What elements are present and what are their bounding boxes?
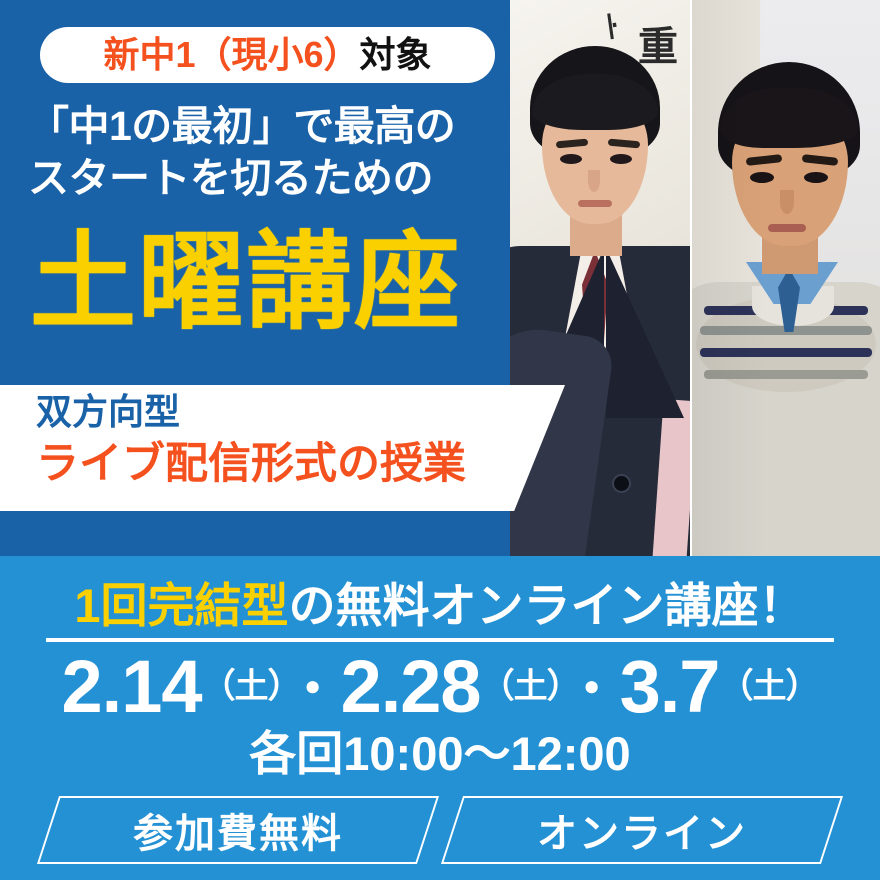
target-audience-black: 対象 bbox=[360, 34, 432, 75]
target-audience-accent: 新中1（現小6） bbox=[103, 34, 359, 75]
target-audience-label: 新中1（現小6）対象 bbox=[103, 37, 431, 73]
jacket-button bbox=[614, 476, 629, 491]
date-3-dow: （土） bbox=[719, 668, 818, 706]
format-line-1: 双方向型 bbox=[36, 394, 180, 430]
course-title: 土曜講座 bbox=[30, 228, 510, 339]
nose bbox=[588, 170, 600, 192]
photo-divider bbox=[690, 0, 692, 556]
headline-line-1: 「中1の最初」で最高の bbox=[28, 100, 498, 152]
headline: 「中1の最初」で最高の スタートを切るための bbox=[28, 100, 498, 205]
date-separator-1: ・ bbox=[284, 661, 341, 717]
teacher-photo-right bbox=[690, 0, 880, 556]
promo-line: 1回完結型の無料オンライン講座！ bbox=[0, 582, 880, 629]
badge-label: オンライン bbox=[452, 796, 832, 864]
eye-left bbox=[560, 154, 582, 164]
session-dates: 2.14（土）・2.28（土）・3.7（土） bbox=[0, 650, 880, 724]
date-1: 2.14 bbox=[62, 645, 202, 728]
divider-rule bbox=[46, 638, 834, 642]
photo-strip: ŀ 重 bbox=[510, 0, 880, 556]
feature-badges: 参加費無料 オンライン bbox=[0, 796, 880, 868]
badge-label: 参加費無料 bbox=[48, 796, 428, 864]
photo-shading bbox=[690, 0, 880, 556]
top-section: ŀ 重 bbox=[0, 0, 880, 556]
date-separator-2: ・ bbox=[563, 661, 620, 717]
badge-online: オンライン bbox=[452, 796, 832, 864]
bottom-section: 1回完結型の無料オンライン講座！ 2.14（土）・2.28（土）・3.7（土） … bbox=[0, 556, 880, 880]
whiteboard-scribble-2: 重 bbox=[638, 14, 678, 72]
date-2: 2.28 bbox=[341, 645, 481, 728]
session-time: 各回10:00〜12:00 bbox=[0, 730, 880, 777]
target-audience-badge: 新中1（現小6）対象 bbox=[40, 27, 495, 83]
date-1-dow: （土） bbox=[202, 668, 284, 706]
date-2-dow: （土） bbox=[481, 668, 563, 706]
badge-free-admission: 参加費無料 bbox=[48, 796, 428, 864]
promo-rest: の無料オンライン講座！ bbox=[289, 579, 806, 632]
date-3: 3.7 bbox=[620, 645, 720, 728]
mouth bbox=[578, 200, 612, 207]
format-line-2: ライブ配信形式の授業 bbox=[36, 443, 466, 486]
headline-line-2: スタートを切るための bbox=[28, 152, 498, 204]
teacher-photo-left: ŀ 重 bbox=[510, 0, 690, 556]
promo-highlight: 1回完結型 bbox=[74, 579, 288, 632]
eye-right bbox=[610, 154, 632, 164]
promo-poster: ŀ 重 bbox=[0, 0, 880, 880]
